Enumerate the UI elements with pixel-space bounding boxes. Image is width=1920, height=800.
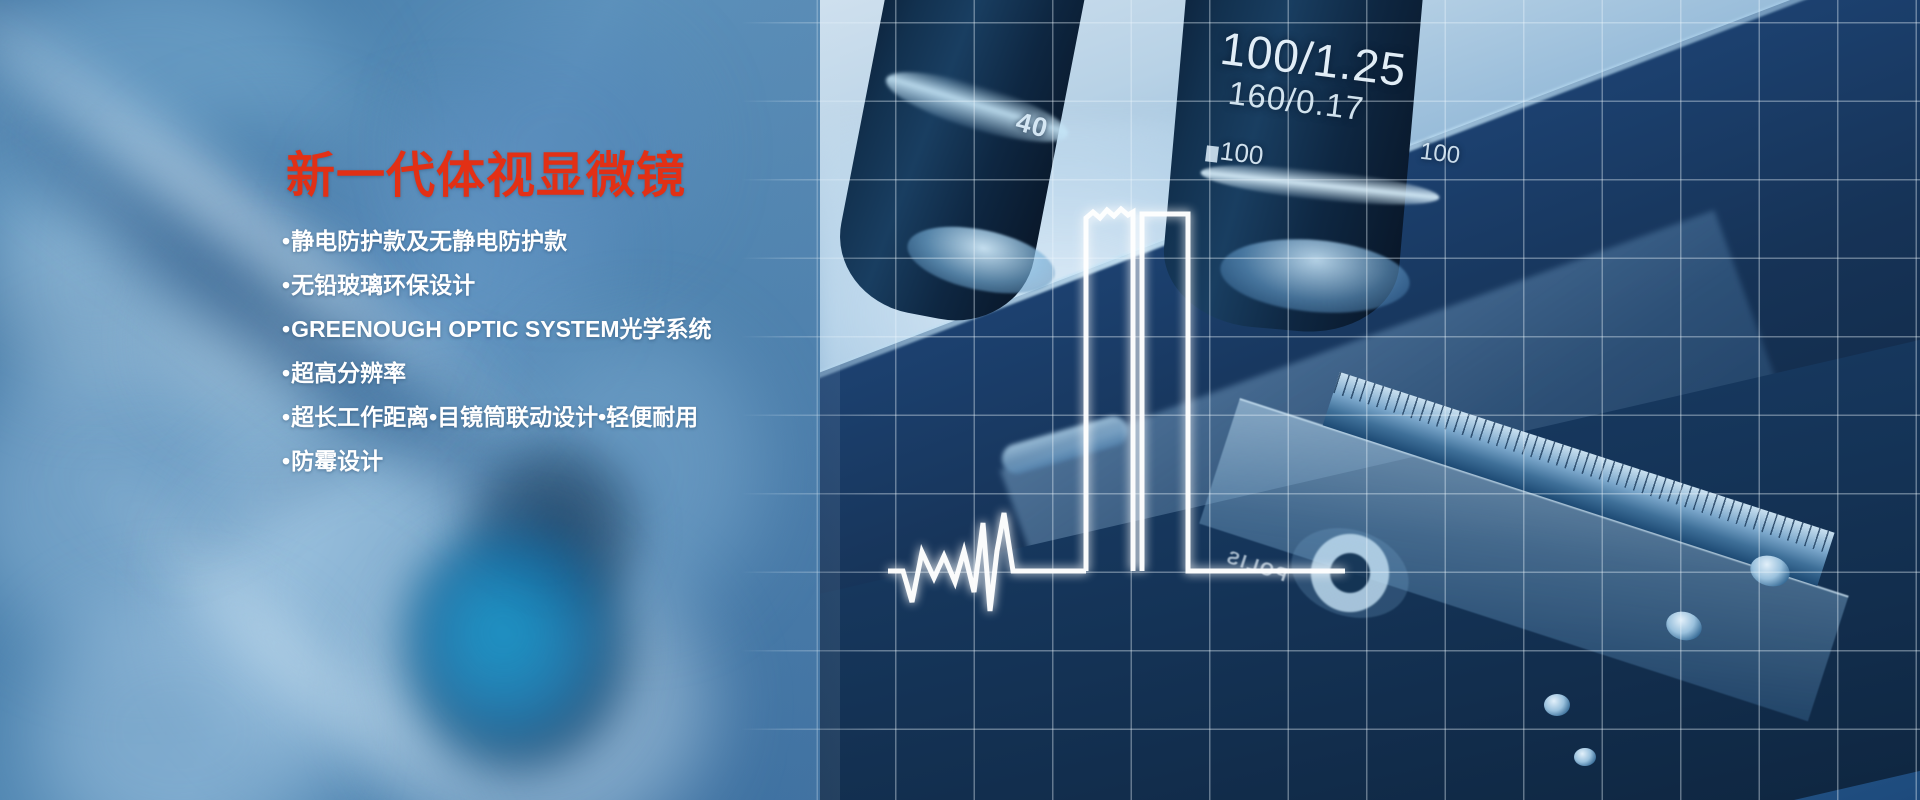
bullet-marker-icon: • (282, 316, 290, 342)
list-item: •防霉设计 (282, 450, 922, 473)
objective-right-index-mark (1205, 145, 1219, 162)
list-item-label: 防霉设计 (291, 448, 383, 474)
bullet-marker-icon: • (282, 228, 290, 254)
objective-right-ring-label-secondary: 100 (1418, 138, 1461, 171)
screw-head (1544, 694, 1570, 716)
promo-banner: POLIS 40 100/1.25 160/0.17 100 100 (0, 0, 1920, 800)
feature-list: •静电防护款及无静电防护款 •无铅玻璃环保设计 •GREENOUGH OPTIC… (282, 230, 922, 473)
bullet-marker-icon: • (282, 404, 290, 430)
copy-block: 新一代体视显微镜 •静电防护款及无静电防护款 •无铅玻璃环保设计 •GREENO… (282, 150, 922, 494)
list-item-label: 静电防护款及无静电防护款 (291, 228, 567, 254)
page-title: 新一代体视显微镜 (286, 150, 922, 204)
list-item-label: 超长工作距离•目镜筒联动设计•轻便耐用 (291, 404, 698, 430)
screw-head (1574, 748, 1596, 766)
list-item-label: GREENOUGH OPTIC SYSTEM光学系统 (291, 316, 711, 342)
microscope-photo: POLIS 40 100/1.25 160/0.17 100 100 (820, 0, 1920, 800)
list-item: •静电防护款及无静电防护款 (282, 230, 922, 253)
bullet-marker-icon: • (282, 360, 290, 386)
list-item: •无铅玻璃环保设计 (282, 274, 922, 297)
list-item: •超高分辨率 (282, 362, 922, 385)
list-item-label: 超高分辨率 (291, 360, 406, 386)
bullet-marker-icon: • (282, 448, 290, 474)
list-item-label: 无铅玻璃环保设计 (291, 272, 475, 298)
list-item: •超长工作距离•目镜筒联动设计•轻便耐用 (282, 406, 922, 429)
list-item: •GREENOUGH OPTIC SYSTEM光学系统 (282, 318, 922, 341)
bullet-marker-icon: • (282, 272, 290, 298)
